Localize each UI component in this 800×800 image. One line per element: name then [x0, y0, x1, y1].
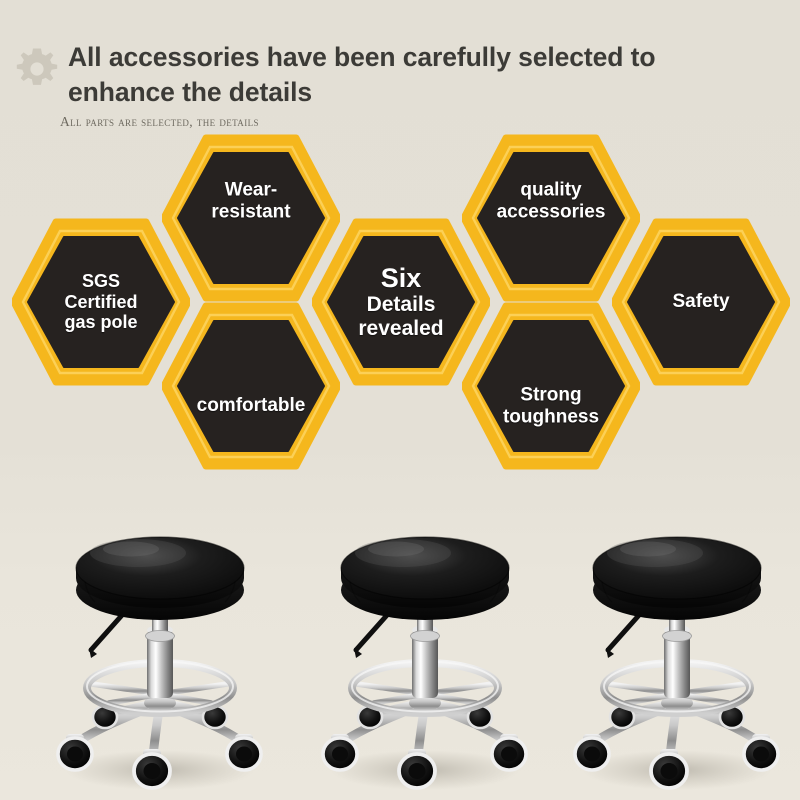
hex-safety[interactable]: Safety — [612, 218, 790, 386]
feature-hexagon-grid: SGS Certified gas pole Wear- resistant c… — [0, 140, 800, 490]
product-image-row — [0, 488, 800, 800]
page-subtitle: All parts are selected, the details — [60, 114, 259, 130]
gear-icon — [14, 46, 60, 92]
stool-center — [300, 498, 550, 798]
header-section: All accessories have been carefully sele… — [0, 0, 800, 145]
product-infographic: All accessories have been carefully sele… — [0, 0, 800, 800]
page-title: All accessories have been carefully sele… — [68, 40, 768, 110]
stool-left — [35, 498, 285, 798]
stool-right — [552, 498, 800, 798]
